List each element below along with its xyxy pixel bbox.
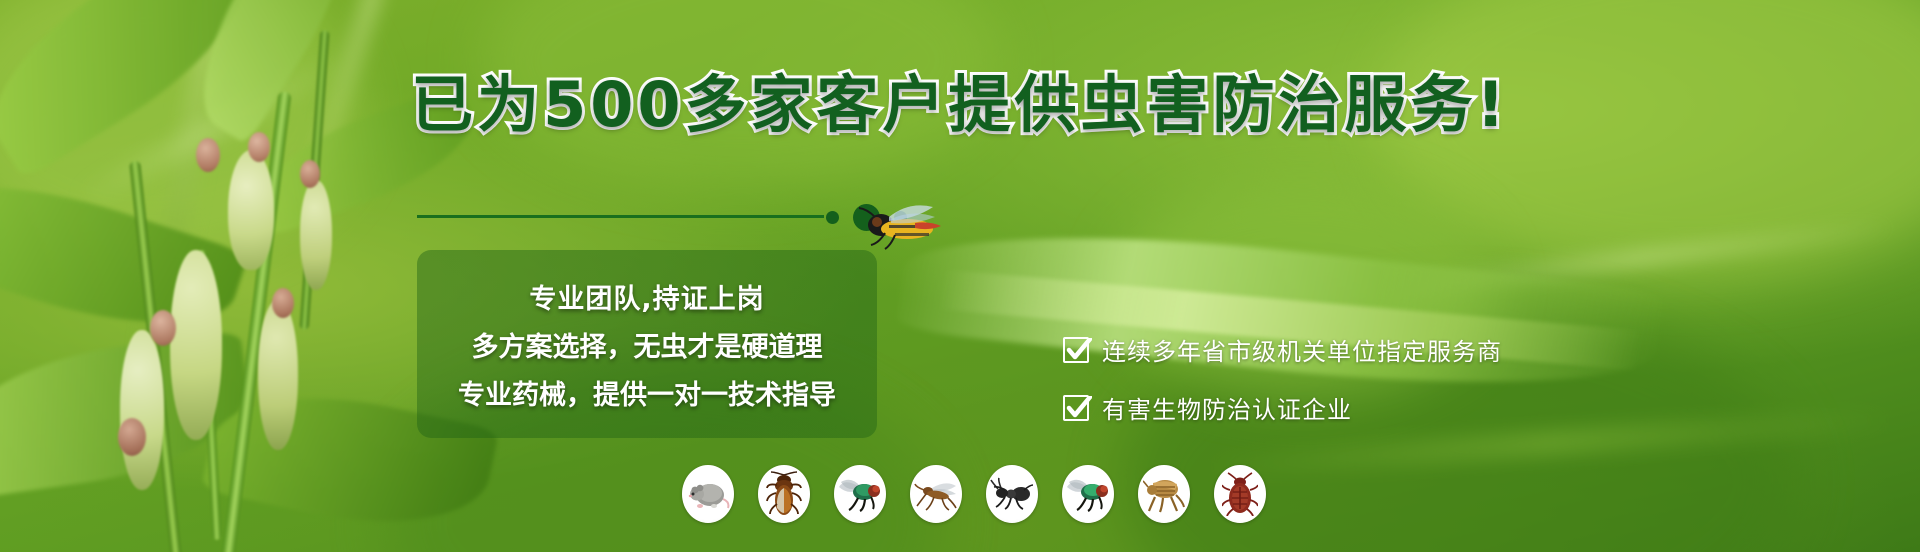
credential-label: 连续多年省市级机关单位指定服务商 [1102,332,1502,367]
ant-icon [986,465,1038,523]
feature-line-2: 多方案选择，无虫才是硬道理 [472,325,823,364]
greenbottle-fly-icon [1062,465,1114,523]
credentials-list: 连续多年省市级机关单位指定服务商 有害生物防治认证企业 [1063,332,1502,425]
cockroach-icon [758,465,810,523]
feature-line-3: 专业药械，提供一对一技术指导 [458,373,836,412]
mouse-icon [682,465,734,523]
flea-icon [1138,465,1190,523]
feature-line-1: 专业团队,持证上岗 [529,277,764,316]
checkbox-checked-icon [1063,395,1089,421]
mosquito-icon [910,465,962,523]
checkbox-checked-icon [1063,337,1089,363]
feature-panel-text: 专业团队,持证上岗 多方案选择，无虫才是硬道理 专业药械，提供一对一技术指导 [417,250,877,438]
credential-label: 有害生物防治认证企业 [1102,390,1352,425]
list-item: 连续多年省市级机关单位指定服务商 [1063,332,1502,367]
pest-icon-row [682,465,1266,523]
bedbug-icon [1214,465,1266,523]
page-title: 已为500多家客户提供虫害防治服务! [0,74,1920,136]
headline-container: 已为500多家客户提供虫害防治服务! [0,74,1920,194]
housefly-icon [834,465,886,523]
divider [417,215,824,218]
dot-small-icon [826,211,839,224]
promo-banner: 已为500多家客户提供虫害防治服务! 专业团队,持证上岗 多方案选择，无虫才是硬… [0,0,1920,552]
list-item: 有害生物防治认证企业 [1063,390,1502,425]
